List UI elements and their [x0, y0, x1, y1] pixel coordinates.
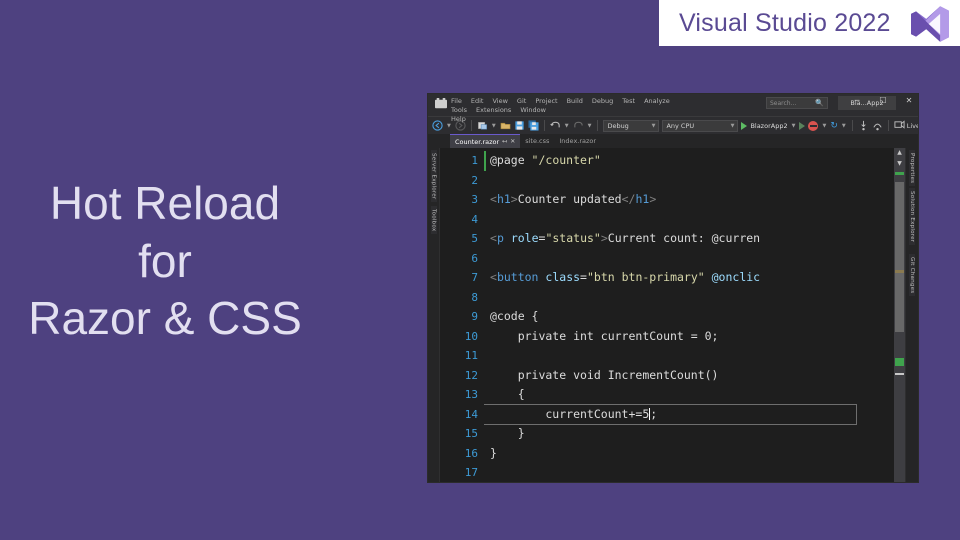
line-number: 10 [440, 327, 484, 347]
code-line: { [490, 385, 905, 405]
code-line [490, 346, 905, 366]
code-line [490, 210, 905, 230]
title-bar: File Edit View Git Project Build Debug T… [428, 94, 918, 116]
banner-title: Visual Studio 2022 [679, 9, 891, 38]
close-icon[interactable]: ✕ [510, 138, 515, 145]
line-number: 16 [440, 444, 484, 464]
line-number: 2 [440, 171, 484, 191]
menu-item-file[interactable]: File [451, 97, 462, 106]
scroll-caret-marker [895, 373, 904, 375]
line-number: 9 [440, 307, 484, 327]
code-line: @page "/counter" [490, 151, 905, 171]
run-target-label[interactable]: BlazorApp2 [750, 122, 787, 130]
code-line: } [490, 444, 905, 464]
tab-label: site.css [525, 137, 549, 145]
code-line: @code { [490, 307, 905, 327]
code-editor[interactable]: 1 2 3 4 5 6 7 8 9 10 11 12 13 14 15 16 1… [440, 148, 905, 482]
toolbar-separator [888, 120, 889, 131]
menu-item-edit[interactable]: Edit [471, 97, 484, 106]
line-number: 12 [440, 366, 484, 386]
line-number-gutter: 1 2 3 4 5 6 7 8 9 10 11 12 13 14 15 16 1… [440, 148, 484, 482]
search-input[interactable]: Search... 🔍 [766, 97, 828, 109]
code-line: private int currentCount = 0; [490, 327, 905, 347]
step-over-icon[interactable] [872, 120, 883, 131]
code-line-active[interactable]: currentCount+=5; [484, 405, 856, 425]
line-number: 14 [440, 405, 484, 425]
search-placeholder: Search... [770, 100, 815, 107]
tab-counter-razor[interactable]: Counter.razor ↤ ✕ [450, 134, 520, 148]
code-line [490, 171, 905, 191]
hot-reload-caret[interactable]: ▼ [822, 123, 826, 129]
menu-item-debug[interactable]: Debug [592, 97, 613, 106]
slide-headline: Hot Reload for Razor & CSS [0, 175, 330, 348]
menu-item-view[interactable]: View [492, 97, 507, 106]
chevron-down-icon: ▼ [731, 123, 735, 129]
menu-item-window[interactable]: Window [520, 106, 546, 115]
window-controls[interactable]: ─ ☐ ✕ [852, 96, 914, 106]
live-share-label: Live Share [907, 122, 918, 130]
sidebar-item-git-changes[interactable]: Git Changes [909, 254, 915, 296]
line-number: 17 [440, 463, 484, 482]
vs-window-icon [434, 98, 448, 110]
scroll-up-button[interactable]: ▲ [895, 148, 904, 158]
run-target-caret[interactable]: ▼ [792, 123, 796, 129]
close-button[interactable]: ✕ [904, 96, 914, 106]
refresh-icon[interactable]: ↻ [830, 121, 838, 131]
line-number: 8 [440, 288, 484, 308]
pin-icon[interactable]: ↤ [502, 138, 507, 145]
line-number: 1 [440, 151, 484, 171]
back-arrow-icon[interactable] [432, 120, 443, 131]
line-number: 4 [440, 210, 484, 230]
maximize-button[interactable]: ☐ [878, 96, 888, 106]
code-line: <button class="btn btn-primary" @onclic [490, 268, 905, 288]
code-line: <h1>Counter updated</h1> [490, 190, 905, 210]
start-debugging-icon[interactable] [741, 122, 747, 130]
line-number: 15 [440, 424, 484, 444]
menu-bar[interactable]: File Edit View Git Project Build Debug T… [451, 95, 701, 124]
sidebar-item-toolbox[interactable]: Toolbox [431, 206, 437, 234]
magnifier-icon: 🔍 [815, 99, 824, 107]
live-share-icon [894, 120, 905, 131]
headline-line-1: Hot Reload [0, 175, 330, 233]
step-icon[interactable] [858, 120, 869, 131]
scroll-change-marker [895, 172, 904, 175]
visual-studio-banner: Visual Studio 2022 [659, 0, 960, 46]
menu-item-project[interactable]: Project [535, 97, 557, 106]
tab-index-razor[interactable]: Index.razor [554, 134, 601, 148]
tab-site-css[interactable]: site.css [520, 134, 554, 148]
scrollbar-thumb[interactable] [895, 182, 904, 332]
scroll-down-button[interactable]: ▼ [895, 159, 904, 169]
editor-vertical-scrollbar[interactable]: ▲ ▼ [894, 148, 905, 482]
refresh-caret[interactable]: ▼ [842, 123, 846, 129]
sidebar-item-properties[interactable]: Properties [909, 150, 915, 186]
left-tool-rail: Server Explorer Toolbox [428, 148, 440, 482]
menu-item-build[interactable]: Build [567, 97, 583, 106]
visual-studio-window: File Edit View Git Project Build Debug T… [428, 94, 918, 482]
code-line: <p role="status">Current count: @curren [490, 229, 905, 249]
menu-item-extensions[interactable]: Extensions [476, 106, 511, 115]
scroll-match-marker [895, 270, 904, 273]
sidebar-item-solution-explorer[interactable]: Solution Explorer [909, 188, 915, 245]
menu-item-git[interactable]: Git [517, 97, 526, 106]
code-line [490, 463, 905, 482]
tab-label: Counter.razor [455, 138, 499, 146]
scroll-change-marker [895, 358, 904, 366]
editor-tab-strip: Counter.razor ↤ ✕ site.css Index.razor [428, 134, 918, 148]
headline-line-2: for [0, 233, 330, 291]
right-tool-rail: Properties Solution Explorer Git Changes [905, 148, 918, 482]
headline-line-3: Razor & CSS [0, 290, 330, 348]
toolbar-separator [852, 120, 853, 131]
visual-studio-logo [909, 5, 951, 43]
editor-body: Server Explorer Toolbox 1 2 3 4 5 6 7 8 … [428, 148, 918, 482]
menu-item-analyze[interactable]: Analyze [644, 97, 670, 106]
line-number: 13 [440, 385, 484, 405]
menu-item-test[interactable]: Test [622, 97, 635, 106]
line-number: 6 [440, 249, 484, 269]
sidebar-item-server-explorer[interactable]: Server Explorer [431, 150, 437, 202]
tab-label: Index.razor [559, 137, 596, 145]
code-line [490, 249, 905, 269]
hot-reload-icon[interactable] [808, 121, 818, 131]
menu-item-tools[interactable]: Tools [451, 106, 467, 115]
code-line: } [490, 424, 905, 444]
line-number: 11 [440, 346, 484, 366]
minimize-button[interactable]: ─ [852, 96, 862, 106]
live-share-button[interactable]: Live Share [894, 120, 918, 131]
line-number: 3 [440, 190, 484, 210]
start-without-debugging-icon[interactable] [799, 122, 805, 130]
menu-item-help[interactable]: Help [451, 115, 692, 124]
line-number: 5 [440, 229, 484, 249]
code-line [490, 288, 905, 308]
code-lines[interactable]: @page "/counter" <h1>Counter updated</h1… [484, 148, 905, 482]
code-line: private void IncrementCount() [490, 366, 905, 386]
line-number: 7 [440, 268, 484, 288]
